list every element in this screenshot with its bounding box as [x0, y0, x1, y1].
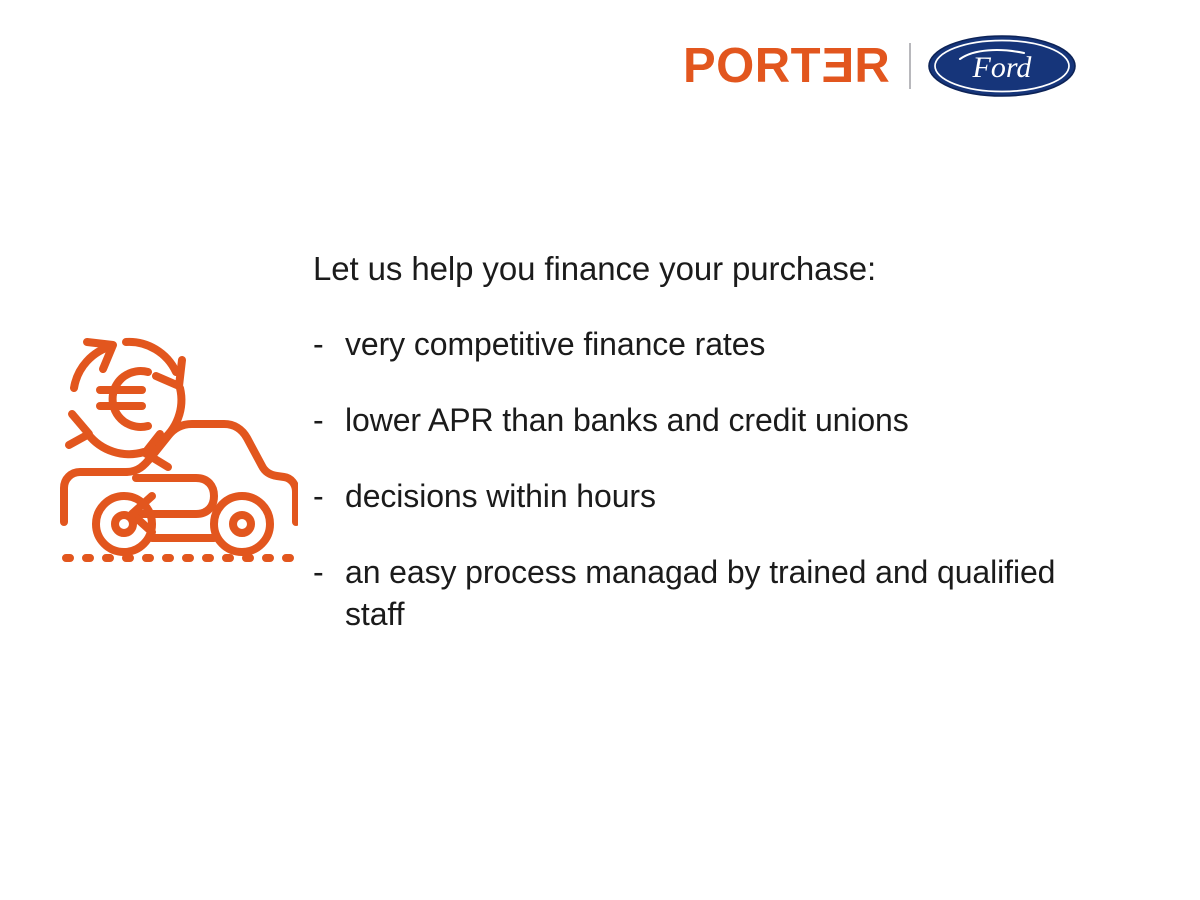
- bullet-dash: -: [313, 399, 345, 441]
- header-logo-lockup: PORTER Ford: [683, 30, 1076, 102]
- porter-logo[interactable]: PORTER: [683, 42, 890, 90]
- logo-divider: [909, 43, 911, 89]
- list-item-label: lower APR than banks and credit unions: [345, 399, 1103, 441]
- benefits-list: - very competitive finance rates - lower…: [313, 323, 1103, 635]
- euro-symbol-icon: [100, 371, 148, 427]
- list-item: - decisions within hours: [313, 475, 1103, 517]
- list-item: - lower APR than banks and credit unions: [313, 399, 1103, 441]
- list-item-label: an easy process managad by trained and q…: [345, 551, 1103, 635]
- bullet-dash: -: [313, 475, 345, 517]
- bullet-dash: -: [313, 323, 345, 365]
- car-euro-finance-icon: [56, 326, 298, 566]
- list-item-label: very competitive finance rates: [345, 323, 1103, 365]
- list-item-label: decisions within hours: [345, 475, 1103, 517]
- bullet-dash: -: [313, 551, 345, 593]
- porter-wordmark-part1: PORT: [683, 42, 821, 90]
- front-wheel-icon: [214, 496, 270, 552]
- ford-logo[interactable]: Ford: [928, 35, 1076, 97]
- ford-wordmark: Ford: [972, 51, 1033, 84]
- list-item: - very competitive finance rates: [313, 323, 1103, 365]
- page-title: Let us help you finance your purchase:: [313, 249, 1103, 289]
- porter-wordmark-part2: R: [854, 42, 890, 90]
- porter-wordmark-mirrored-e: E: [821, 42, 854, 90]
- finance-content-block: Let us help you finance your purchase: -…: [313, 249, 1103, 635]
- list-item: - an easy process managad by trained and…: [313, 551, 1103, 635]
